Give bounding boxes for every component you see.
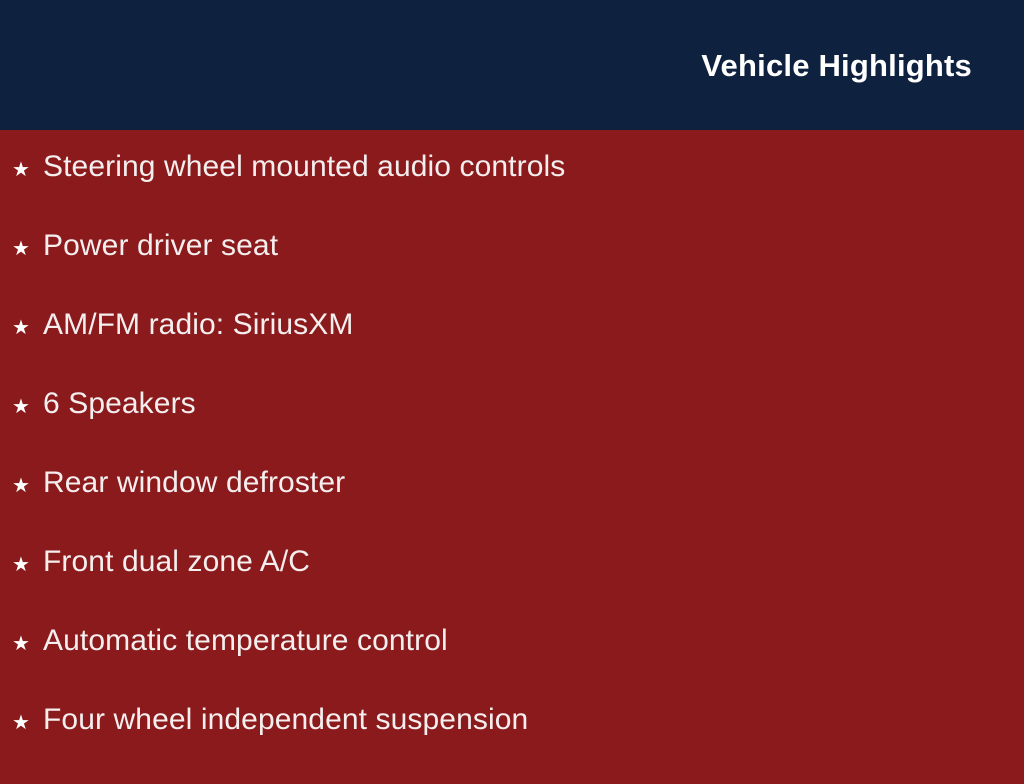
list-item: ★ Power driver seat [0,231,1024,310]
star-icon: ★ [12,713,43,733]
list-item: ★ AM/FM radio: SiriusXM [0,310,1024,389]
list-item-label: Steering wheel mounted audio controls [43,152,565,182]
list-item: ★ Rear window defroster [0,468,1024,547]
star-icon: ★ [12,555,43,575]
star-icon: ★ [12,160,43,180]
list-item: ★ Four wheel independent suspension [0,705,1024,784]
star-icon: ★ [12,397,43,417]
list-item-label: 6 Speakers [43,389,196,419]
star-icon: ★ [12,239,43,259]
star-icon: ★ [12,318,43,338]
list-item-label: AM/FM radio: SiriusXM [43,310,353,340]
list-item: ★ Automatic temperature control [0,626,1024,705]
list-item-label: Power driver seat [43,231,278,261]
page-title: Vehicle Highlights [701,50,972,81]
list-item-label: Automatic temperature control [43,626,448,656]
vehicle-highlights-list: ★ Steering wheel mounted audio controls … [0,152,1024,784]
list-item-label: Four wheel independent suspension [43,705,528,735]
star-icon: ★ [12,634,43,654]
list-item: ★ Steering wheel mounted audio controls [0,152,1024,231]
slide-header: Vehicle Highlights [0,0,1024,130]
list-item: ★ 6 Speakers [0,389,1024,468]
star-icon: ★ [12,476,43,496]
presentation-slide: Vehicle Highlights ★ Steering wheel moun… [0,0,1024,768]
list-item-label: Front dual zone A/C [43,547,310,577]
slide-body: ★ Steering wheel mounted audio controls … [0,130,1024,768]
list-item-label: Rear window defroster [43,468,345,498]
list-item: ★ Front dual zone A/C [0,547,1024,626]
